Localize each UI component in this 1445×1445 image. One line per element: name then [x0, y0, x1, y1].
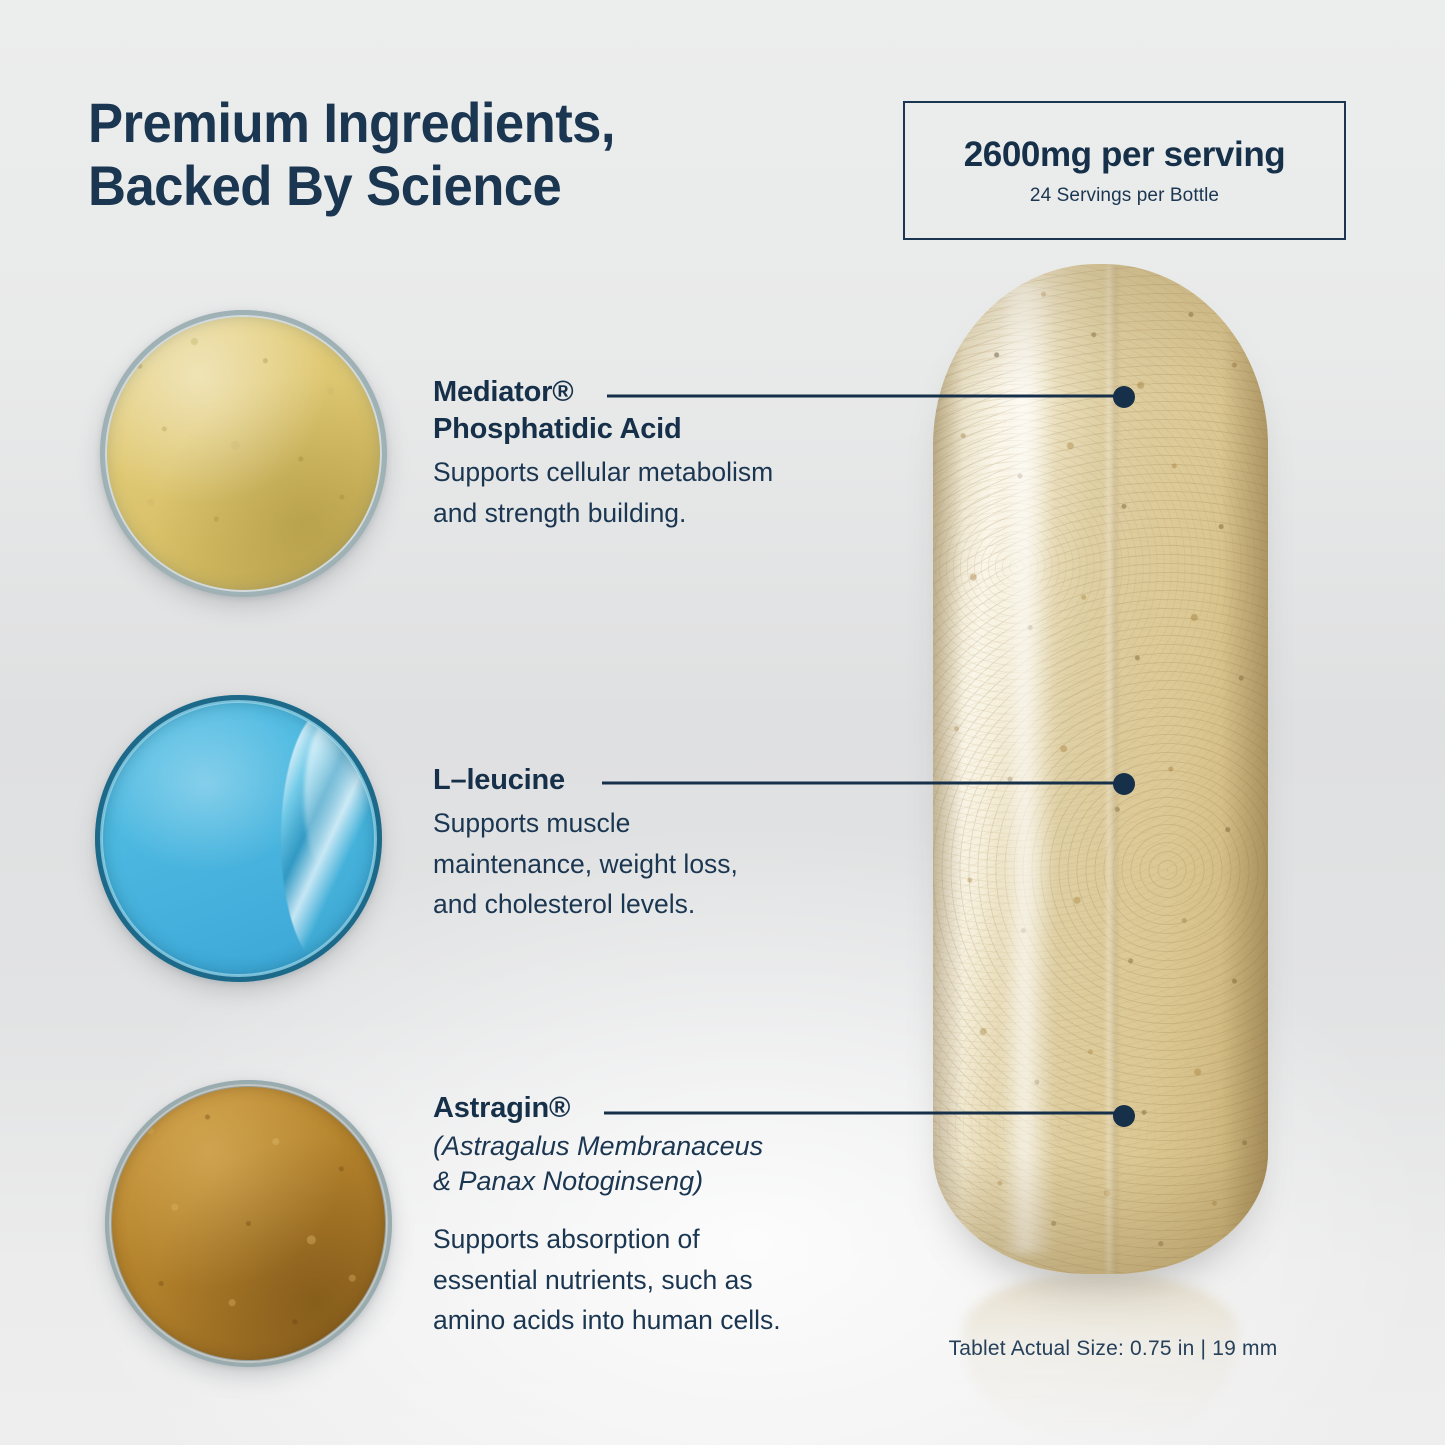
- servings-per-bottle: 24 Servings per Bottle: [1030, 185, 1219, 207]
- powder-speckle-texture: [112, 1087, 385, 1360]
- ingredient-description: Supports cellular metabolism and strengt…: [433, 452, 903, 533]
- blue-liquid-fill: [102, 702, 375, 975]
- ingredient-name: Mediator® Phosphatidic Acid: [433, 374, 903, 448]
- product-tablet: [933, 264, 1268, 1274]
- ingredient-block-mediator: Mediator® Phosphatidic Acid Supports cel…: [433, 374, 903, 533]
- ingredient-block-astragin: Astragin® (Astragalus Membranaceus & Pan…: [433, 1090, 903, 1341]
- tablet-ridge: [1107, 264, 1117, 1274]
- tablet-highlight: [1000, 284, 1054, 1254]
- tablet-size-caption: Tablet Actual Size: 0.75 in | 19 mm: [928, 1337, 1298, 1361]
- ingredient-latin-name: (Astragalus Membranaceus & Panax Notogin…: [433, 1129, 903, 1199]
- page-title: Premium Ingredients, Backed By Science: [88, 92, 831, 217]
- ingredients-infographic: Premium Ingredients, Backed By Science 2…: [0, 0, 1445, 1445]
- tablet-bottom-shadow: [933, 1153, 1268, 1274]
- ingredient-description: Supports muscle maintenance, weight loss…: [433, 803, 903, 925]
- tablet-fine-grain-texture: [933, 264, 1268, 1274]
- ingredient-swatch-mediator: [100, 310, 387, 597]
- ingredient-swatch-astragin: [105, 1080, 392, 1367]
- serving-badge: 2600mg per serving 24 Servings per Bottl…: [903, 101, 1346, 240]
- ingredient-name: L–leucine: [433, 762, 903, 799]
- tablet-left-edge-shadow: [933, 264, 963, 1274]
- ingredient-name: Astragin®: [433, 1090, 903, 1127]
- tablet-body: [933, 264, 1268, 1274]
- powder-speckle-texture: [107, 317, 380, 590]
- brown-powder-fill: [112, 1087, 385, 1360]
- tablet-top-shadow: [933, 264, 1268, 395]
- ingredient-swatch-leucine: [95, 695, 382, 982]
- yellow-powder-fill: [107, 317, 380, 590]
- liquid-gloss-secondary: [304, 718, 359, 876]
- ingredient-block-leucine: L–leucine Supports muscle maintenance, w…: [433, 762, 903, 925]
- ingredient-description: Supports absorption of essential nutrien…: [433, 1219, 903, 1341]
- serving-amount: 2600mg per serving: [964, 135, 1286, 175]
- tablet-right-edge-shadow: [1221, 264, 1268, 1274]
